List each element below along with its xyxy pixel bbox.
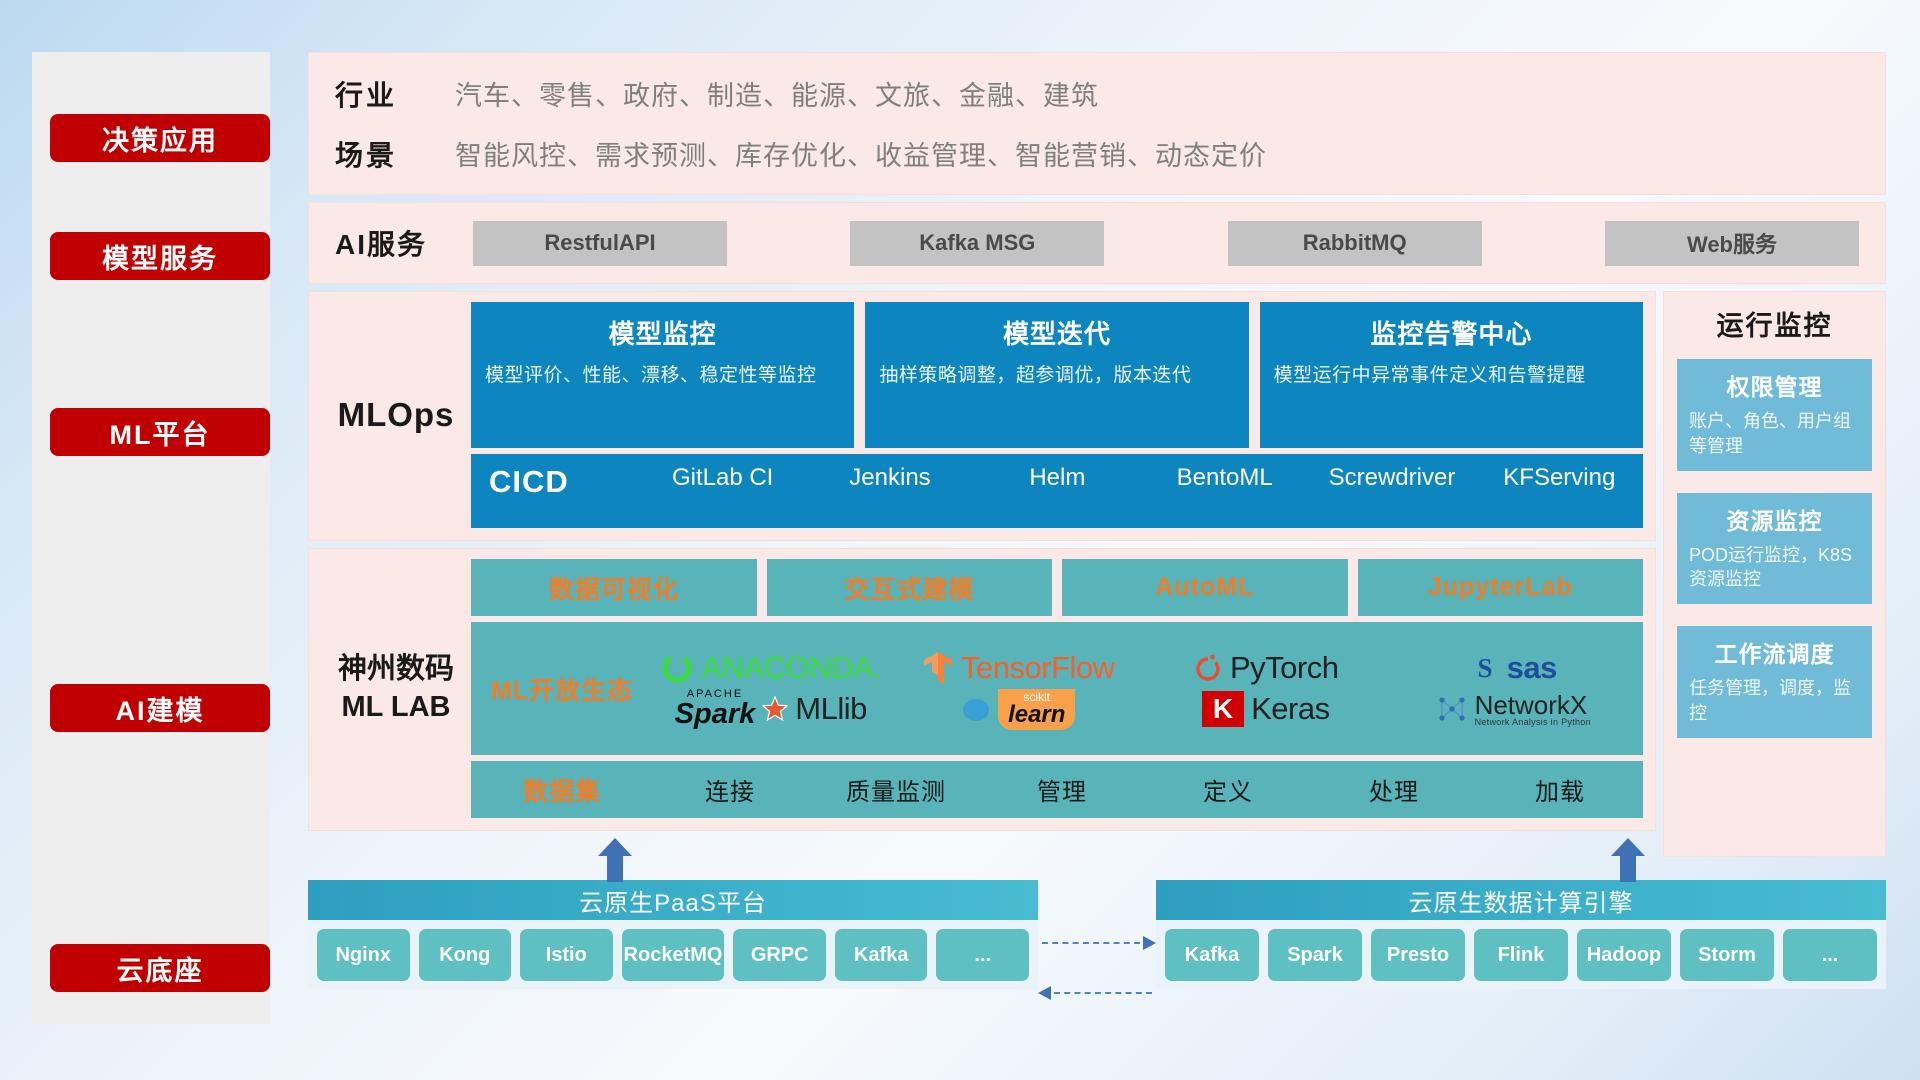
dataset-item-process[interactable]: 处理 [1311,772,1477,807]
keras-wordmark: Keras [1251,691,1329,727]
monitor-card-permission-management[interactable]: 权限管理 账户、角色、用户组等管理 [1677,359,1872,471]
mlops-label: MLOps [321,302,471,528]
dataset-item-load[interactable]: 加载 [1477,772,1643,807]
pytorch-logo: PyTorch [1193,650,1338,686]
service-chip-rabbitmq[interactable]: RabbitMQ [1228,221,1482,266]
paas-chip-nginx[interactable]: Nginx [317,929,410,981]
scenario-label: 场景 [335,134,455,174]
ml-lab-label: 神州数码 ML LAB [321,559,471,818]
tensorflow-logo: TensorFlow [922,650,1115,686]
engine-chip-more[interactable]: ... [1783,929,1877,981]
card-desc: 模型运行中异常事件定义和告警提醒 [1274,363,1629,390]
sidebar-item-cloud-base[interactable]: 云底座 [50,944,270,992]
keras-k-badge: K [1202,691,1244,728]
service-chip-label: Kafka MSG [919,230,1035,256]
mlops-card-alert-center[interactable]: 监控告警中心 模型运行中异常事件定义和告警提醒 [1260,302,1643,448]
cicd-item-jenkins[interactable]: Jenkins [806,464,973,492]
service-chip-label: RestfulAPI [544,230,655,256]
paas-chip-more[interactable]: ... [936,929,1029,981]
service-chip-label: Web服务 [1687,227,1777,259]
sas-icon: S [1470,653,1500,683]
ops-monitor-title: 运行监控 [1677,304,1872,343]
paas-chip-kong[interactable]: Kong [419,929,512,981]
scikit-blue-blob-icon [961,694,991,724]
card-title: 监控告警中心 [1274,314,1629,351]
industry-values: 汽车、零售、政府、制造、能源、文旅、金融、建筑 [455,74,1099,113]
networkx-icon [1436,694,1468,724]
lab-tool-label: 交互式建模 [844,570,974,606]
cicd-bar: CICD GitLab CI Jenkins Helm BentoML Scre… [471,454,1643,528]
mlops-card-model-monitoring[interactable]: 模型监控 模型评价、性能、漂移、稳定性等监控 [471,302,854,448]
industry-row: 行业 汽车、零售、政府、制造、能源、文旅、金融、建筑 [335,74,1885,114]
architecture-stack: 行业 汽车、零售、政府、制造、能源、文旅、金融、建筑 场景 智能风控、需求预测、… [308,52,1886,864]
cicd-item-gitlab-ci[interactable]: GitLab CI [639,464,806,492]
card-desc: POD运行监控，K8S资源监控 [1689,543,1860,593]
service-chip-label: RabbitMQ [1303,230,1407,256]
arrow-up-paas-icon [598,838,632,882]
paas-chip-kafka[interactable]: Kafka [835,929,928,981]
lab-tool-jupyterlab[interactable]: JupyterLab [1358,559,1644,616]
spark-star-icon [762,696,788,722]
card-desc: 模型评价、性能、漂移、稳定性等监控 [485,363,840,390]
decision-apps-band: 行业 汽车、零售、政府、制造、能源、文旅、金融、建筑 场景 智能风控、需求预测、… [308,52,1886,195]
engine-chip-presto[interactable]: Presto [1371,929,1465,981]
dataset-item-manage[interactable]: 管理 [979,772,1145,807]
ml-lab-band: 神州数码 ML LAB 数据可视化 交互式建模 AutoML JupyterLa… [308,548,1656,831]
sidebar-item-label: 模型服务 [102,237,218,276]
mlops-card-model-iteration[interactable]: 模型迭代 抽样策略调整，超参调优，版本迭代 [865,302,1248,448]
dataset-item-quality-monitor[interactable]: 质量监测 [813,772,979,807]
anaconda-icon [660,651,694,685]
engine-chip-kafka[interactable]: Kafka [1165,929,1259,981]
service-chip-kafka-msg[interactable]: Kafka MSG [850,221,1104,266]
sidebar-item-label: ML平台 [110,413,211,452]
scikit-learn-logo: scikit learn [961,689,1075,730]
bidirectional-link-area [1038,880,1156,1030]
data-engine-block: 云原生数据计算引擎 Kafka Spark Presto Flink Hadoo… [1156,880,1886,1030]
sidebar-item-decision-apps[interactable]: 决策应用 [50,114,270,162]
service-chip-restfulapi[interactable]: RestfulAPI [473,221,727,266]
ml-lab-label-line2: ML LAB [341,689,450,727]
sas-logo: S sas [1470,650,1557,686]
tensorflow-wordmark: TensorFlow [961,650,1115,686]
networkx-tagline: Network Analysis in Python [1475,718,1591,727]
engine-chip-flink[interactable]: Flink [1474,929,1568,981]
ops-monitor-band: 运行监控 权限管理 账户、角色、用户组等管理 资源监控 POD运行监控，K8S资… [1663,291,1886,857]
spark-mllib-logo: APACHE Spark MLlib [675,689,867,729]
pytorch-icon [1193,651,1223,685]
arrow-right-dashed-icon [1038,942,1156,944]
paas-platform-title: 云原生PaaS平台 [308,880,1038,920]
sidebar-item-label: AI建模 [116,689,205,728]
card-title: 权限管理 [1689,368,1860,402]
paas-chip-rocketmq[interactable]: RocketMQ [622,929,725,981]
ml-open-ecosystem-row: ML开放生态 ANACONDA. [471,622,1643,755]
engine-chip-spark[interactable]: Spark [1268,929,1362,981]
arrow-up-data-engine-icon [1611,838,1645,882]
dataset-label: 数据集 [477,772,647,808]
paas-chip-istio[interactable]: Istio [520,929,613,981]
engine-chip-storm[interactable]: Storm [1680,929,1774,981]
dataset-row: 数据集 连接 质量监测 管理 定义 处理 加载 [471,761,1643,818]
pytorch-wordmark: PyTorch [1230,650,1338,686]
card-desc: 抽样策略调整，超参调优，版本迭代 [879,363,1234,390]
cloud-base-row: 云原生PaaS平台 Nginx Kong Istio RocketMQ GRPC… [308,880,1886,1030]
sidebar-item-ml-platform[interactable]: ML平台 [50,408,270,456]
lab-tool-label: 数据可视化 [549,570,679,606]
spark-wordmark: Spark [675,700,756,729]
sas-wordmark: sas [1507,650,1557,686]
cicd-item-bentoml[interactable]: BentoML [1141,464,1308,492]
cicd-item-screwdriver[interactable]: Screwdriver [1308,464,1475,492]
sidebar-item-label: 云底座 [117,949,204,988]
dataset-item-define[interactable]: 定义 [1145,772,1311,807]
lab-tool-label: JupyterLab [1428,573,1573,602]
data-engine-title: 云原生数据计算引擎 [1156,880,1886,920]
paas-platform-block: 云原生PaaS平台 Nginx Kong Istio RocketMQ GRPC… [308,880,1038,1030]
card-title: 工作流调度 [1689,635,1860,669]
cicd-item-kfserving[interactable]: KFServing [1476,464,1643,492]
monitor-card-workflow-scheduling[interactable]: 工作流调度 任务管理，调度，监控 [1677,626,1872,738]
industry-label: 行业 [335,74,455,114]
sidebar-item-label: 决策应用 [102,119,218,158]
dataset-item-connect[interactable]: 连接 [647,772,813,807]
cicd-item-helm[interactable]: Helm [974,464,1141,492]
tensorflow-icon [922,650,954,686]
card-desc: 账户、角色、用户组等管理 [1689,409,1860,459]
networkx-logo: NetworkX Network Analysis in Python [1436,692,1591,727]
learn-wordmark: learn [1008,703,1065,727]
card-title: 资源监控 [1689,502,1860,536]
card-desc: 任务管理，调度，监控 [1689,676,1860,726]
anaconda-logo: ANACONDA. [660,650,881,686]
ai-services-label: AI服务 [335,223,455,263]
scenario-row: 场景 智能风控、需求预测、库存优化、收益管理、智能营销、动态定价 [335,134,1885,174]
lab-tool-label: AutoML [1155,573,1254,602]
engine-chip-hadoop[interactable]: Hadoop [1577,929,1671,981]
mllib-wordmark: MLlib [795,691,867,727]
paas-chip-grpc[interactable]: GRPC [733,929,826,981]
svg-text:S: S [1477,653,1492,683]
arrow-left-dashed-icon [1038,992,1156,994]
mlops-band: MLOps 模型监控 模型评价、性能、漂移、稳定性等监控 模型迭代 抽样策略调整… [308,291,1656,541]
monitor-card-resource-monitoring[interactable]: 资源监控 POD运行监控，K8S资源监控 [1677,493,1872,605]
lab-tool-automl[interactable]: AutoML [1062,559,1348,616]
lab-tool-interactive-modeling[interactable]: 交互式建模 [767,559,1053,616]
anaconda-wordmark: ANACONDA. [701,650,881,686]
left-rail-panel [32,52,270,1024]
scenario-values: 智能风控、需求预测、库存优化、收益管理、智能营销、动态定价 [455,134,1267,173]
ai-services-band: AI服务 RestfulAPI Kafka MSG RabbitMQ Web服务 [308,202,1886,284]
cicd-label: CICD [489,464,639,500]
keras-logo: K Keras [1202,691,1330,728]
ml-lab-label-line1: 神州数码 [338,651,454,689]
sidebar-item-ai-modeling[interactable]: AI建模 [50,684,270,732]
card-title: 模型迭代 [879,314,1234,351]
card-title: 模型监控 [485,314,840,351]
sidebar-item-model-service[interactable]: 模型服务 [50,232,270,280]
networkx-wordmark: NetworkX [1475,692,1591,718]
ml-open-ecosystem-label: ML开放生态 [477,671,647,707]
lab-tool-data-visualization[interactable]: 数据可视化 [471,559,757,616]
service-chip-web-service[interactable]: Web服务 [1605,221,1859,266]
